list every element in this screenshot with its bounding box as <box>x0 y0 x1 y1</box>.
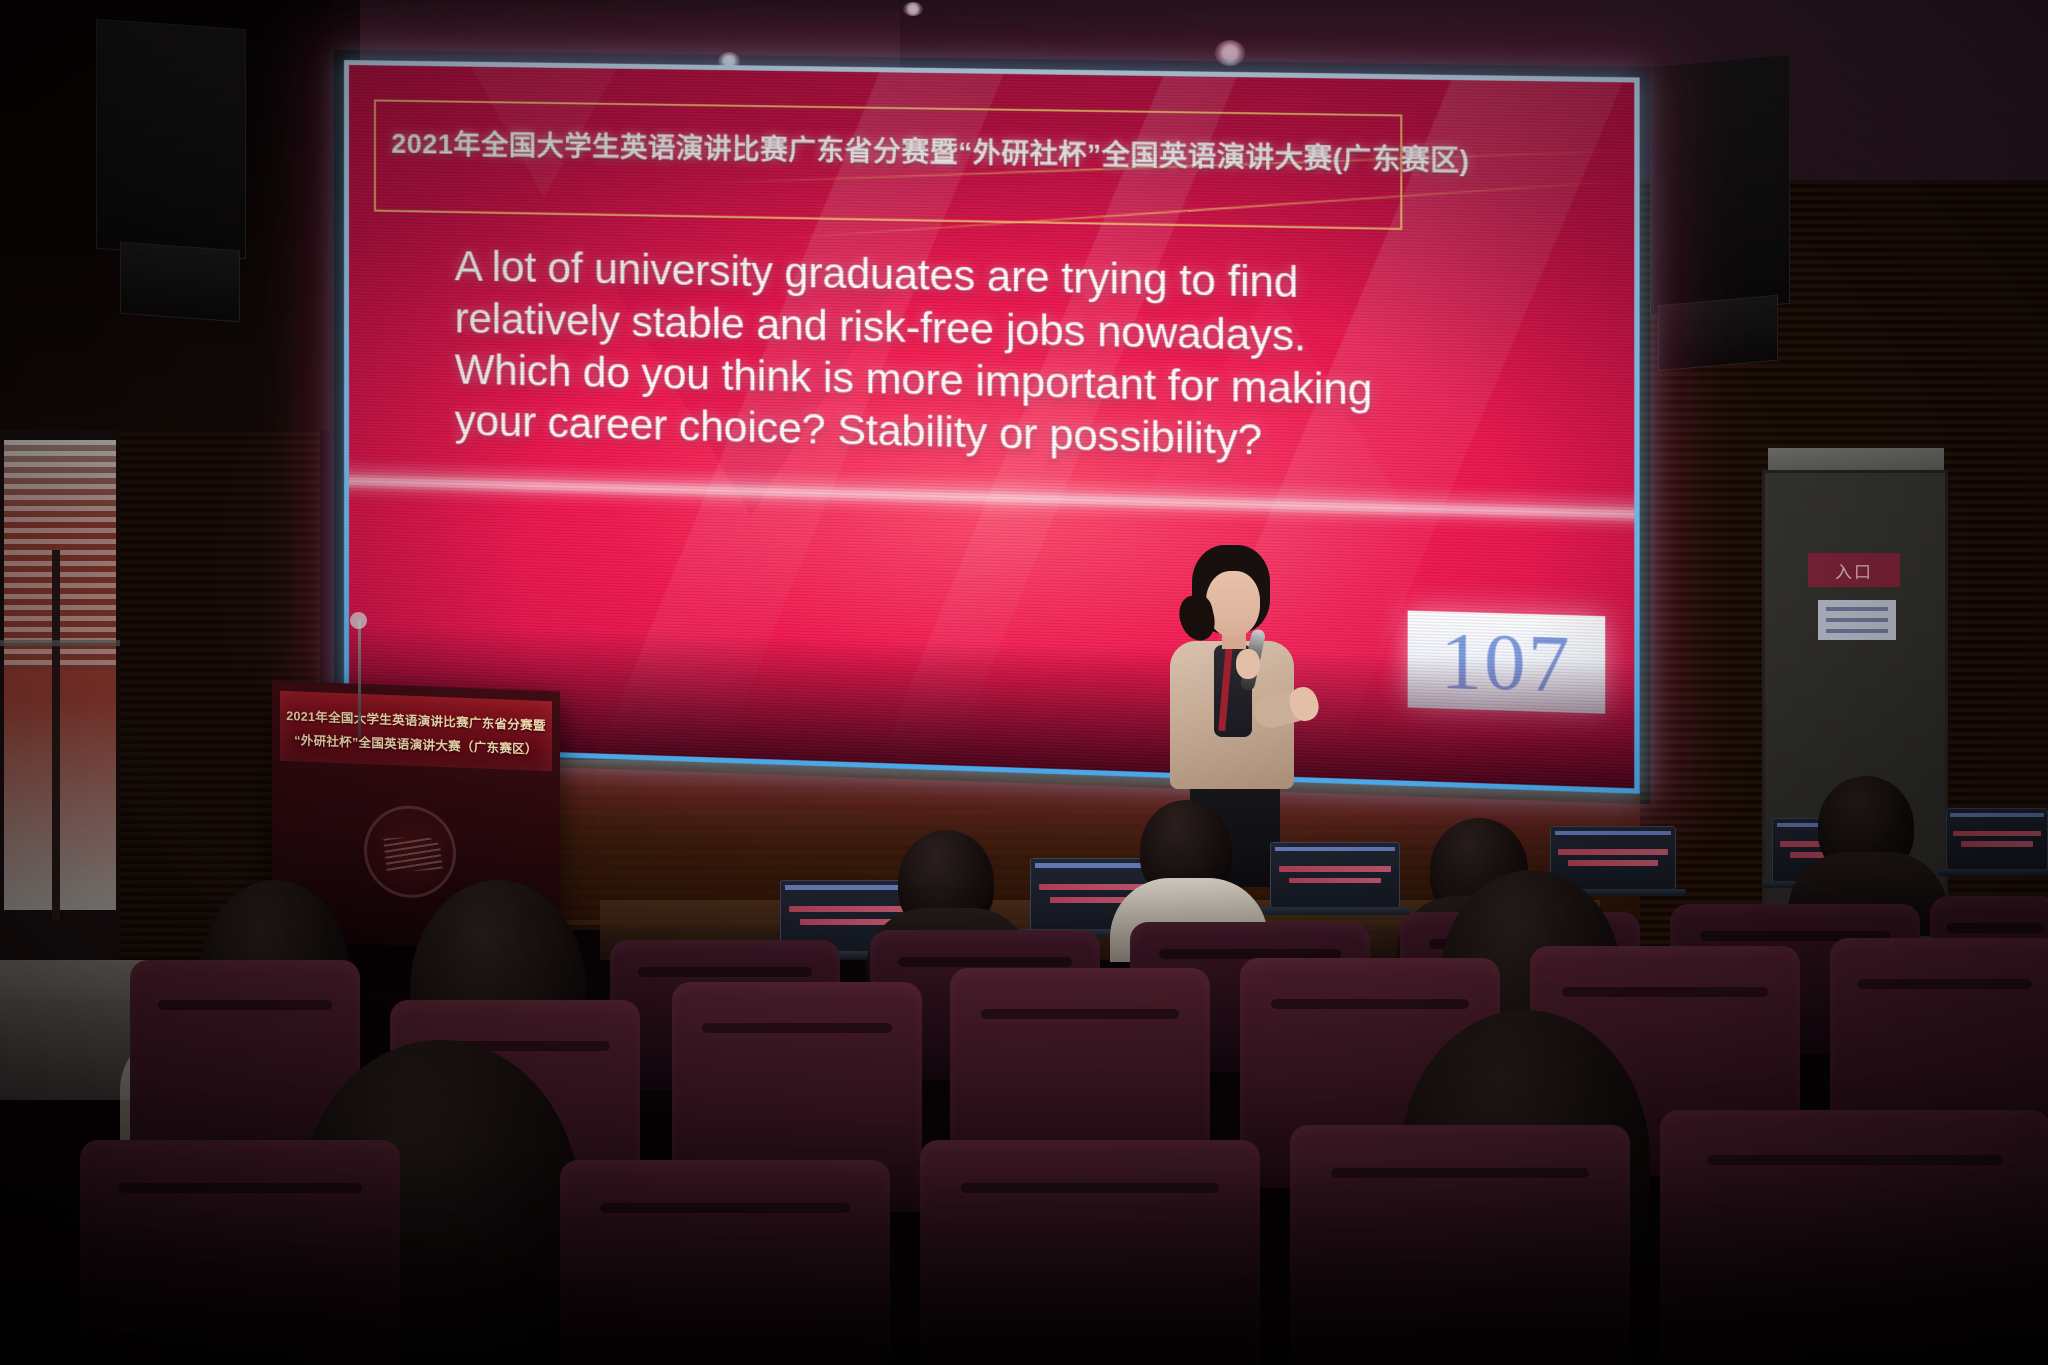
microphone-head-icon <box>350 612 367 629</box>
microphone-stand <box>358 620 361 738</box>
slide-canvas: 2021年全国大学生英语演讲比赛广东省分赛暨“外研社杯”全国英语演讲大赛(广东赛… <box>349 65 1634 788</box>
speaker-hand-holding-mic <box>1236 649 1260 679</box>
entrance-sign: 入口 <box>1808 553 1900 587</box>
university-seal-logo <box>364 804 456 900</box>
window-mullion <box>52 550 60 920</box>
laptop-titlebar <box>1950 813 2044 817</box>
foreground-shadow <box>0 1155 2048 1365</box>
laptop-text-line <box>1279 866 1392 872</box>
ceiling-downlight <box>903 2 923 16</box>
door-notice-placard <box>1818 600 1896 640</box>
window-frame-left <box>0 430 120 990</box>
laptop[interactable] <box>1270 842 1400 908</box>
line-array-speaker-right <box>1650 54 1790 316</box>
contestant-speaker <box>1150 545 1320 795</box>
slide-body-text: A lot of university graduates are trying… <box>455 240 1522 472</box>
laptop-screen <box>1270 842 1400 908</box>
laptop-base <box>1938 869 2048 876</box>
laptop-text-line <box>1568 860 1657 866</box>
laptop-text-line <box>1289 878 1381 884</box>
line-array-speaker-left-lower <box>120 242 240 322</box>
laptop-titlebar <box>1275 847 1395 851</box>
laptop-titlebar <box>785 885 915 890</box>
laptop-text-line <box>1961 841 2033 846</box>
laptop-text-line <box>789 906 910 912</box>
balcony-rail <box>0 640 120 646</box>
laptop-text-line <box>1558 849 1667 855</box>
window-blind <box>4 440 116 670</box>
laptop-titlebar <box>1555 831 1672 835</box>
line-array-speaker-left <box>96 19 246 259</box>
laptop-screen <box>1946 808 2048 870</box>
laptop-text-line <box>1953 831 2041 836</box>
led-screen: 2021年全国大学生英语演讲比赛广东省分赛暨“外研社杯”全国英语演讲大赛(广东赛… <box>344 60 1640 794</box>
screen-bezel: 2021年全国大学生英语演讲比赛广东省分赛暨“外研社杯”全国英语演讲大赛(广东赛… <box>344 60 1640 794</box>
laptop[interactable] <box>1946 808 2048 870</box>
podium-banner: 2021年全国大学生英语演讲比赛广东省分赛暨 “外研社杯”全国英语演讲大赛（广东… <box>280 691 552 771</box>
line-array-speaker-right-lower <box>1658 295 1778 371</box>
podium-banner-line-2: “外研社杯”全国英语演讲大赛（广东赛区） <box>294 729 538 757</box>
auditorium-scene: 入口 2021年全国大学生英语演讲比赛广东省分赛暨“外研社杯”全国英语演讲大赛(… <box>0 0 2048 1365</box>
laptop-base <box>1260 907 1411 915</box>
